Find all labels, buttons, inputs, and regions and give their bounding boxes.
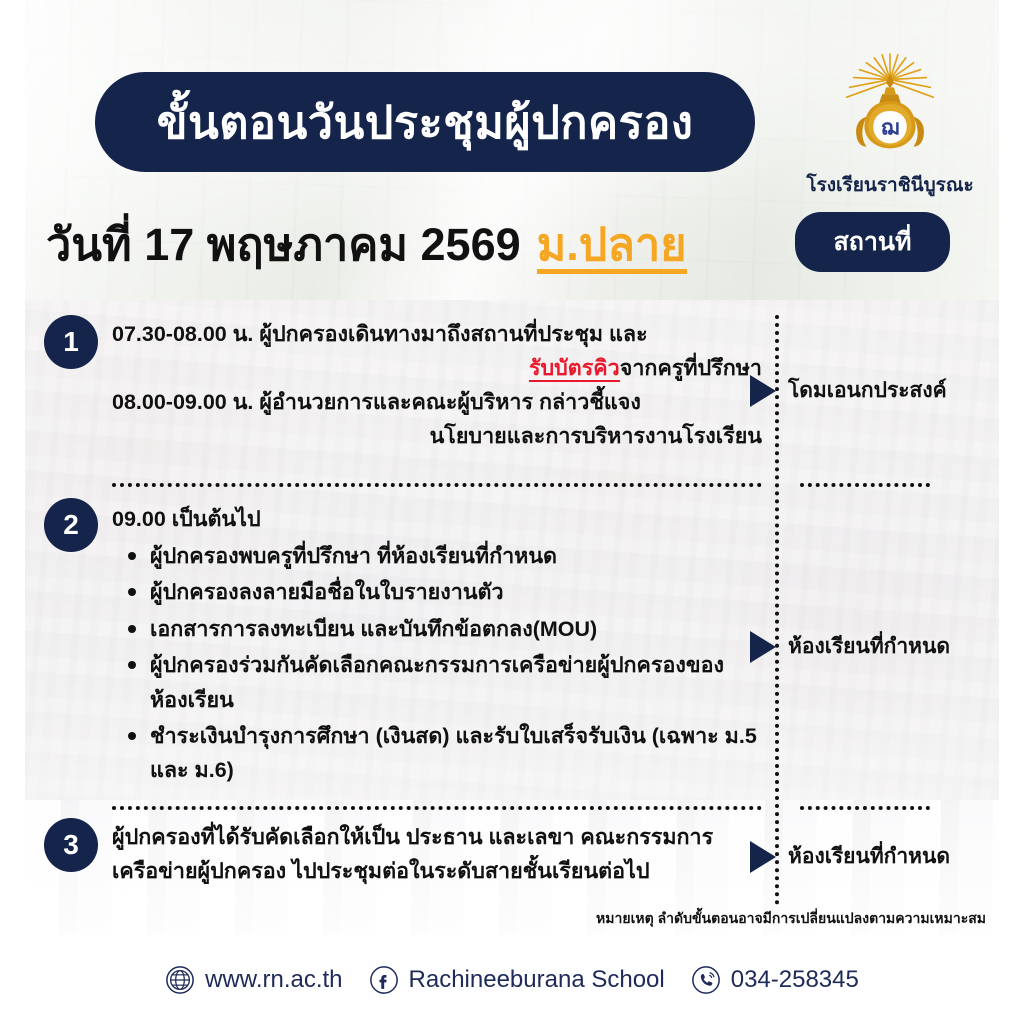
poster-root: ขั้นตอนวันประชุมผู้ปกครอง [0, 0, 1024, 1024]
footer-website-text: www.rn.ac.th [205, 966, 342, 994]
globe-icon [165, 965, 195, 995]
list-item: ผู้ปกครองร่วมกันคัดเลือกคณะกรรมการเครือข… [150, 648, 762, 717]
grade-level-label: ม.ปลาย [537, 222, 687, 274]
step-1-line-4: นโยบายและการบริหารงานโรงเรียน [112, 420, 762, 454]
step-body-3: ผู้ปกครองที่ได้รับคัดเลือกให้เป็น ประธาน… [112, 821, 762, 889]
school-name: โรงเรียนราชินีบูรณะ [790, 170, 990, 200]
list-item: ผู้ปกครองลงลายมือชื่อในใบรายงานตัว [150, 575, 762, 609]
royal-crest-icon: ฌ [831, 50, 949, 168]
queue-card-highlight: รับบัตรคิว [529, 356, 620, 382]
step-2-line-1: 09.00 เป็นต้นไป [112, 503, 762, 537]
footer-website[interactable]: www.rn.ac.th [165, 965, 342, 995]
place-column-badge-label: สถานที่ [833, 222, 911, 262]
phone-icon [691, 965, 721, 995]
step-1-line-1: 07.30-08.00 น. ผู้ปกครองเดินทางมาถึงสถาน… [112, 318, 762, 352]
step-3-location-label: ห้องเรียนที่กำหนด [788, 840, 950, 873]
list-item: ชำระเงินบำรุงการศึกษา (เงินสด) และรับใบเ… [150, 719, 762, 788]
step-1-line-2-tail: จากครูที่ปรึกษา [620, 356, 762, 380]
step-separator-1-right [800, 483, 930, 487]
step-number-2: 2 [44, 498, 98, 552]
step-separator-2-right [800, 806, 930, 810]
footer-facebook-text: Rachineeburana School [409, 966, 665, 994]
step-2-bullet-list: ผู้ปกครองพบครูที่ปรึกษา ที่ห้องเรียนที่ก… [112, 539, 762, 788]
svg-text:ฌ: ฌ [881, 116, 899, 140]
step-3-location: ห้องเรียนที่กำหนด [750, 840, 950, 873]
step-number-3: 3 [44, 818, 98, 872]
event-date: วันที่ 17 พฤษภาคม 2569 ม.ปลาย [46, 208, 687, 280]
step-3-line-1: ผู้ปกครองที่ได้รับคัดเลือกให้เป็น ประธาน… [112, 821, 762, 855]
step-number-1: 1 [44, 315, 98, 369]
step-body-2: 09.00 เป็นต้นไป ผู้ปกครองพบครูที่ปรึกษา … [112, 503, 762, 790]
footer-phone[interactable]: 034-258345 [691, 965, 859, 995]
list-item: ผู้ปกครองพบครูที่ปรึกษา ที่ห้องเรียนที่ก… [150, 539, 762, 573]
step-separator-2 [112, 806, 762, 810]
footnote: หมายเหตุ ลำดับขั้นตอนอาจมีการเปลี่ยนแปลง… [596, 908, 986, 930]
page-title: ขั้นตอนวันประชุมผู้ปกครอง [95, 72, 755, 172]
step-2-location-label: ห้องเรียนที่กำหนด [788, 630, 950, 663]
step-separator-1 [112, 483, 762, 487]
step-1-line-3: 08.00-09.00 น. ผู้อำนวยการและคณะผู้บริหา… [112, 386, 762, 420]
place-column-badge: สถานที่ [795, 212, 950, 272]
arrow-right-icon [750, 631, 776, 663]
footer-facebook[interactable]: Rachineeburana School [369, 965, 665, 995]
step-3-line-2: เครือข่ายผู้ปกครอง ไปประชุมต่อในระดับสาย… [112, 855, 762, 889]
page-title-text: ขั้นตอนวันประชุมผู้ปกครอง [157, 100, 694, 145]
event-date-text: วันที่ 17 พฤษภาคม 2569 [46, 208, 521, 280]
facebook-icon [369, 965, 399, 995]
school-logo-block: ฌ โรงเรียนราชินีบูรณะ [790, 50, 990, 200]
footer-phone-text: 034-258345 [731, 966, 859, 994]
contact-footer: www.rn.ac.th Rachineeburana School 0 [0, 935, 1024, 1024]
arrow-right-icon [750, 375, 776, 407]
arrow-right-icon [750, 841, 776, 873]
step-2-location: ห้องเรียนที่กำหนด [750, 630, 950, 663]
step-1-location: โดมเอนกประสงค์ [750, 374, 947, 407]
list-item: เอกสารการลงทะเบียน และบันทึกข้อตกลง(MOU) [150, 612, 762, 646]
step-1-location-label: โดมเอนกประสงค์ [788, 374, 947, 407]
step-body-1: 07.30-08.00 น. ผู้ปกครองเดินทางมาถึงสถาน… [112, 318, 762, 454]
step-1-line-2: รับบัตรคิวจากครูที่ปรึกษา [112, 352, 762, 386]
